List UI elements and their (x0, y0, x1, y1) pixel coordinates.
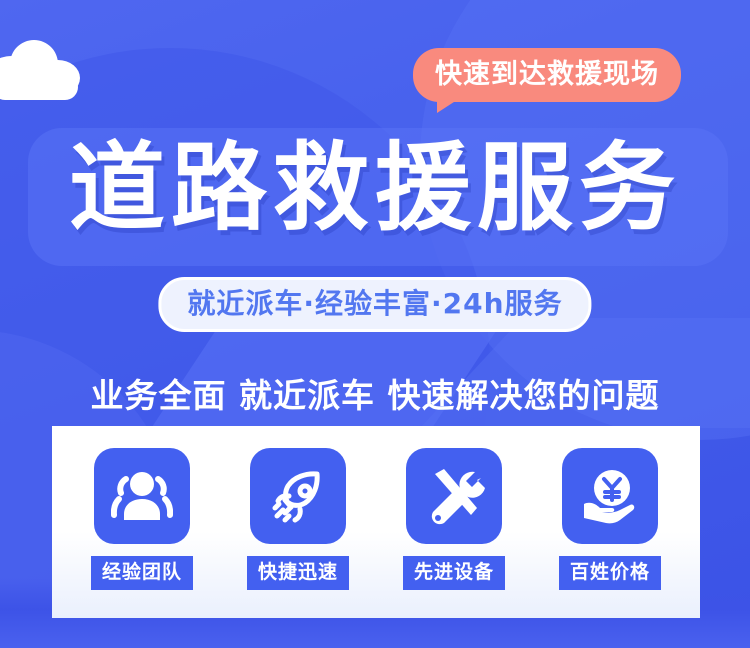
feature-label: 经验团队 (91, 556, 193, 590)
top-badge-wrapper: 快速到达救援现场 (413, 48, 681, 102)
tools-wrench-icon (406, 448, 502, 544)
feature-label: 百姓价格 (559, 556, 661, 590)
hand-coin-yuan-icon (562, 448, 658, 544)
feature-label: 先进设备 (403, 556, 505, 590)
section-heading: 业务全面 就近派车 快速解决您的问题 (0, 376, 750, 416)
feature-item-price[interactable]: 百姓价格 (546, 448, 674, 590)
feature-label: 快捷迅速 (247, 556, 349, 590)
cloud-icon (0, 30, 94, 96)
arrival-speed-badge: 快速到达救援现场 (413, 48, 681, 102)
team-people-icon (94, 448, 190, 544)
promo-banner: 快速到达救援现场 道路救援服务 就近派车·经验丰富·24h服务 业务全面 就近派… (0, 0, 750, 648)
feature-item-team[interactable]: 经验团队 (78, 448, 206, 590)
rocket-icon (250, 448, 346, 544)
page-title: 道路救援服务 (0, 136, 750, 242)
subtitle-pill: 就近派车·经验丰富·24h服务 (158, 277, 591, 332)
features-panel: 经验团队 (52, 426, 700, 618)
feature-item-equipment[interactable]: 先进设备 (390, 448, 518, 590)
feature-item-speed[interactable]: 快捷迅速 (234, 448, 362, 590)
features-row: 经验团队 (52, 426, 700, 618)
